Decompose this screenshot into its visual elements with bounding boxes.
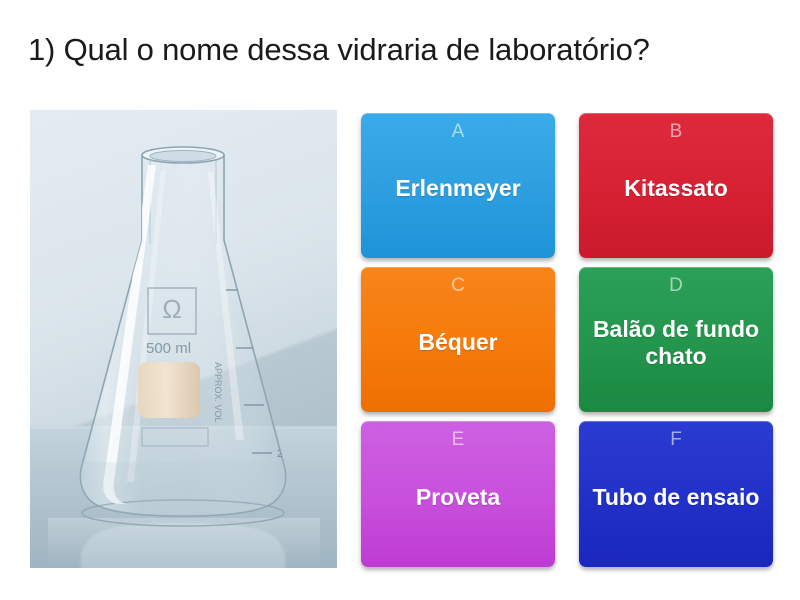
page-title: 1) Qual o nome dessa vidraria de laborat… <box>28 30 780 70</box>
answer-label-c: Béquer <box>416 297 499 402</box>
answer-label-a: Erlenmeyer <box>393 143 522 248</box>
answer-card-f[interactable]: F Tubo de ensaio <box>579 421 773 567</box>
answer-letter-a: A <box>452 121 465 143</box>
answer-label-d: Balão de fundo chato <box>587 297 765 402</box>
answer-label-e: Proveta <box>414 451 502 557</box>
svg-text:APPROX. VOL: APPROX. VOL <box>213 362 223 423</box>
answer-card-c[interactable]: C Béquer <box>361 267 555 412</box>
question-image: Ω 500 ml APPROX. VOL 500 400 300 200 <box>30 110 337 568</box>
answer-letter-b: B <box>670 121 683 143</box>
answer-card-b[interactable]: B Kitassato <box>579 113 773 258</box>
svg-text:Ω: Ω <box>162 294 181 324</box>
answer-label-f: Tubo de ensaio <box>591 451 762 557</box>
answer-letter-d: D <box>669 275 683 297</box>
answer-letter-e: E <box>452 429 465 451</box>
answer-card-e[interactable]: E Proveta <box>361 421 555 567</box>
answer-options-grid: A Erlenmeyer B Kitassato C Béquer D Balã… <box>361 113 773 565</box>
svg-text:500 ml: 500 ml <box>146 340 191 357</box>
answer-card-a[interactable]: A Erlenmeyer <box>361 113 555 258</box>
answer-card-d[interactable]: D Balão de fundo chato <box>579 267 773 412</box>
answer-letter-c: C <box>451 275 465 297</box>
erlenmeyer-flask-illustration: Ω 500 ml APPROX. VOL 500 400 300 200 <box>30 110 337 568</box>
answer-label-b: Kitassato <box>622 143 730 248</box>
answer-letter-f: F <box>670 429 682 451</box>
